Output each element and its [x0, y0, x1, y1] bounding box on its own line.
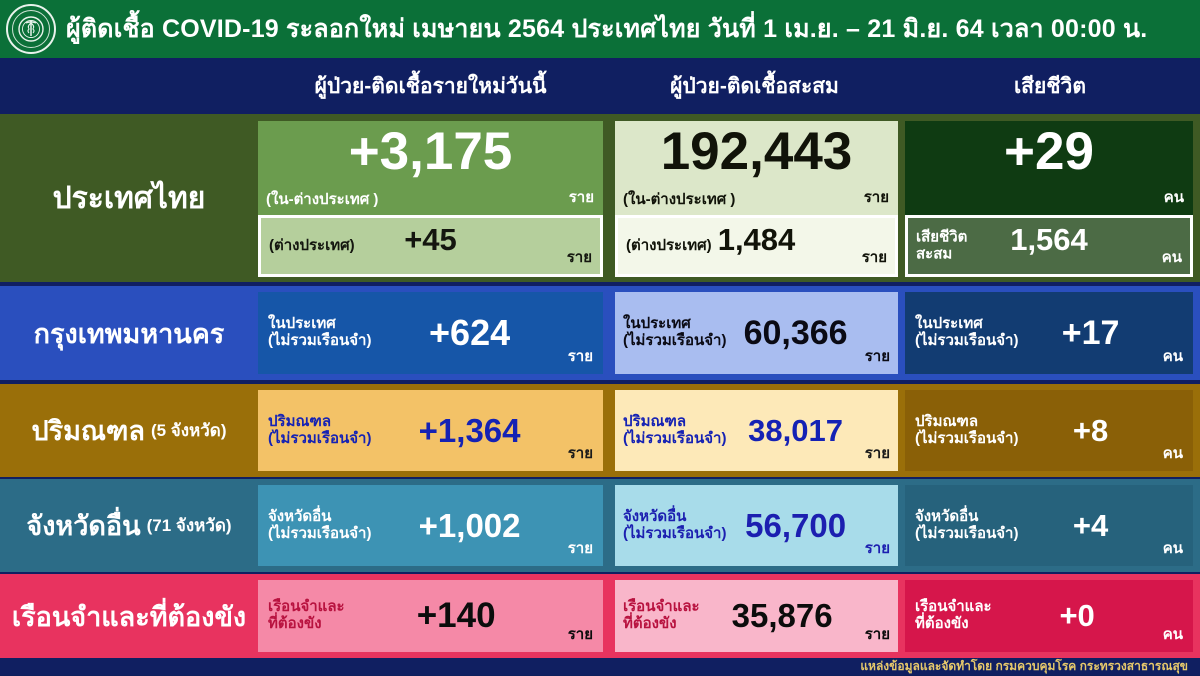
prisons-deaths-value: +0: [992, 598, 1163, 634]
thailand-new-imported-value: +45: [261, 222, 600, 258]
tag-line-2: (ไม่รวมเรือนจำ): [268, 525, 371, 542]
cell-prisons-new-cases: เรือนจำและ ที่ต้องขัง +140 ราย: [258, 580, 603, 652]
tag-line-1: เรือนจำและ: [623, 598, 700, 615]
data-source-credit: แหล่งข้อมูลและจัดทำโดย กรมควบคุมโรค กระท…: [860, 657, 1200, 676]
footer-bar: แหล่งข้อมูลและจัดทำโดย กรมควบคุมโรค กระท…: [0, 658, 1200, 675]
other-provinces-cumulative-tag: จังหวัดอื่น (ไม่รวมเรือนจำ): [623, 509, 726, 543]
other-provinces-new-unit: ราย: [568, 536, 593, 566]
row-label-perimeter: ปริมณฑล (5 จังหวัด): [0, 384, 258, 477]
prisons-new-unit: ราย: [568, 622, 593, 652]
page-title: ผู้ติดเชื้อ COVID-19 ระลอกใหม่ เมษายน 25…: [66, 17, 1147, 42]
row-label-main: ปริมณฑล: [31, 409, 144, 452]
thailand-cumulative-imported-value: 1,484: [618, 222, 895, 258]
row-label-other-provinces: จังหวัดอื่น (71 จังหวัด): [0, 479, 258, 572]
tag-line-2: (ไม่รวมเรือนจำ): [268, 430, 371, 447]
thailand-new-value: +3,175: [258, 125, 603, 178]
thailand-cumulative-unit: ราย: [864, 185, 889, 209]
cell-prisons-deaths: เรือนจำและ ที่ต้องขัง +0 คน: [905, 580, 1193, 652]
tag-line-1: จังหวัดอื่น: [623, 508, 686, 525]
perimeter-deaths-value: +8: [1018, 413, 1162, 449]
tag-line-1: จังหวัดอื่น: [268, 508, 331, 525]
other-provinces-cumulative-value: 56,700: [726, 507, 864, 545]
cell-bangkok-deaths: ในประเทศ (ไม่รวมเรือนจำ) +17 คน: [905, 292, 1193, 374]
column-header-bar: ผู้ป่วย-ติดเชื้อรายใหม่วันนี้ ผู้ป่วย-ติ…: [0, 58, 1200, 114]
tag-line-1: ในประเทศ: [623, 315, 691, 332]
row-label-prisons: เรือนจำและที่ต้องขัง: [0, 574, 258, 658]
prisons-deaths-tag: เรือนจำและ ที่ต้องขัง: [915, 599, 992, 633]
cell-other-provinces-new-cases: จังหวัดอื่น (ไม่รวมเรือนจำ) +1,002 ราย: [258, 485, 603, 566]
bangkok-deaths-unit: คน: [1163, 344, 1183, 374]
thailand-deaths-total: +29 คน: [905, 121, 1193, 215]
perimeter-cumulative-unit: ราย: [865, 441, 890, 471]
perimeter-deaths-unit: คน: [1163, 441, 1183, 471]
tag-line-1: ปริมณฑล: [915, 413, 978, 430]
tag-line-1: ปริมณฑล: [623, 413, 686, 430]
thailand-deaths-cumulative-value: 1,564: [908, 222, 1190, 258]
prisons-cumulative-unit: ราย: [865, 622, 890, 652]
tag-line-1: ปริมณฑล: [268, 413, 331, 430]
cell-thailand-cumulative: 192,443 (ใน-ต่างประเทศ ) ราย (ต่างประเทศ…: [615, 121, 898, 277]
thailand-new-total: +3,175 (ใน-ต่างประเทศ ) ราย: [258, 121, 603, 215]
cell-bangkok-new-cases: ในประเทศ (ไม่รวมเรือนจำ) +624 ราย: [258, 292, 603, 374]
cell-other-provinces-deaths: จังหวัดอื่น (ไม่รวมเรือนจำ) +4 คน: [905, 485, 1193, 566]
perimeter-new-value: +1,364: [371, 412, 567, 450]
row-label-sub: (5 จังหวัด): [151, 417, 227, 444]
tag-line-2: ที่ต้องขัง: [915, 615, 969, 632]
bangkok-cumulative-value: 60,366: [726, 314, 864, 353]
tag-line-2: (ไม่รวมเรือนจำ): [623, 430, 726, 447]
prisons-cumulative-tag: เรือนจำและ ที่ต้องขัง: [623, 599, 700, 633]
other-provinces-new-value: +1,002: [371, 507, 567, 545]
other-provinces-deaths-unit: คน: [1163, 536, 1183, 566]
cell-perimeter-cumulative: ปริมณฑล (ไม่รวมเรือนจำ) 38,017 ราย: [615, 390, 898, 471]
cell-bangkok-cumulative: ในประเทศ (ไม่รวมเรือนจำ) 60,366 ราย: [615, 292, 898, 374]
row-label-bangkok: กรุงเทพมหานคร: [0, 286, 258, 380]
row-label-main: จังหวัดอื่น: [26, 504, 140, 547]
prisons-new-value: +140: [345, 596, 568, 636]
other-provinces-deaths-value: +4: [1018, 508, 1162, 544]
thailand-cumulative-imported-unit: ราย: [862, 245, 887, 269]
perimeter-deaths-tag: ปริมณฑล (ไม่รวมเรือนจำ): [915, 414, 1018, 448]
tag-line-2: ที่ต้องขัง: [623, 615, 677, 632]
thailand-cumulative-value: 192,443: [615, 125, 898, 178]
other-provinces-deaths-tag: จังหวัดอื่น (ไม่รวมเรือนจำ): [915, 509, 1018, 543]
cell-thailand-new-cases: +3,175 (ใน-ต่างประเทศ ) ราย (ต่างประเทศ)…: [258, 121, 603, 277]
ministry-of-public-health-emblem-icon: [6, 4, 56, 54]
table-row-bangkok: กรุงเทพมหานคร ในประเทศ (ไม่รวมเรือนจำ) +…: [0, 286, 1200, 380]
tag-line-1: ในประเทศ: [268, 315, 336, 332]
prisons-cumulative-value: 35,876: [700, 597, 865, 635]
bangkok-cumulative-unit: ราย: [865, 344, 890, 374]
thailand-new-imported: (ต่างประเทศ) +45 ราย: [258, 215, 603, 277]
covid-dashboard: ผู้ติดเชื้อ COVID-19 ระลอกใหม่ เมษายน 25…: [0, 0, 1200, 675]
cell-other-provinces-cumulative: จังหวัดอื่น (ไม่รวมเรือนจำ) 56,700 ราย: [615, 485, 898, 566]
column-header-cumulative: ผู้ป่วย-ติดเชื้อสะสม: [612, 58, 897, 114]
thailand-cumulative-total: 192,443 (ใน-ต่างประเทศ ) ราย: [615, 121, 898, 215]
table-row-other-provinces: จังหวัดอื่น (71 จังหวัด) จังหวัดอื่น (ไม…: [0, 479, 1200, 572]
row-label-main: เรือนจำและที่ต้องขัง: [12, 595, 246, 638]
table-row-thailand: ประเทศไทย +3,175 (ใน-ต่างประเทศ ) ราย (ต…: [0, 114, 1200, 282]
tag-line-1: เรือนจำและ: [268, 598, 345, 615]
row-label-thailand: ประเทศไทย: [0, 114, 258, 282]
perimeter-cumulative-value: 38,017: [726, 413, 864, 449]
table-row-perimeter: ปริมณฑล (5 จังหวัด) ปริมณฑล (ไม่รวมเรือน…: [0, 384, 1200, 477]
row-label-main: กรุงเทพมหานคร: [34, 312, 225, 355]
perimeter-new-unit: ราย: [568, 441, 593, 471]
perimeter-new-tag: ปริมณฑล (ไม่รวมเรือนจำ): [268, 414, 371, 448]
tag-line-1: เรือนจำและ: [915, 598, 992, 615]
column-header-new-cases: ผู้ป่วย-ติดเชื้อรายใหม่วันนี้: [258, 58, 603, 114]
thailand-new-tag: (ใน-ต่างประเทศ ): [266, 187, 378, 211]
cell-thailand-deaths: +29 คน เสียชีวิต สะสม 1,564 คน: [905, 121, 1193, 277]
tag-line-2: (ไม่รวมเรือนจำ): [915, 430, 1018, 447]
bangkok-new-value: +624: [371, 312, 567, 354]
thailand-deaths-cumulative-unit: คน: [1162, 245, 1182, 269]
thailand-deaths-cumulative: เสียชีวิต สะสม 1,564 คน: [905, 215, 1193, 277]
tag-line-2: (ไม่รวมเรือนจำ): [268, 332, 371, 349]
other-provinces-new-tag: จังหวัดอื่น (ไม่รวมเรือนจำ): [268, 509, 371, 543]
bangkok-new-tag: ในประเทศ (ไม่รวมเรือนจำ): [268, 316, 371, 350]
bangkok-deaths-value: +17: [1018, 314, 1162, 353]
tag-line-2: (ไม่รวมเรือนจำ): [915, 525, 1018, 542]
row-label-main: ประเทศไทย: [53, 175, 206, 222]
prisons-new-tag: เรือนจำและ ที่ต้องขัง: [268, 599, 345, 633]
header-bar: ผู้ติดเชื้อ COVID-19 ระลอกใหม่ เมษายน 25…: [0, 0, 1200, 58]
perimeter-cumulative-tag: ปริมณฑล (ไม่รวมเรือนจำ): [623, 414, 726, 448]
tag-line-2: (ไม่รวมเรือนจำ): [623, 332, 726, 349]
table-row-prisons: เรือนจำและที่ต้องขัง เรือนจำและ ที่ต้องข…: [0, 574, 1200, 658]
thailand-new-imported-unit: ราย: [567, 245, 592, 269]
tag-line-2: (ไม่รวมเรือนจำ): [623, 525, 726, 542]
bangkok-deaths-tag: ในประเทศ (ไม่รวมเรือนจำ): [915, 316, 1018, 350]
tag-line-1: จังหวัดอื่น: [915, 508, 978, 525]
cell-perimeter-new-cases: ปริมณฑล (ไม่รวมเรือนจำ) +1,364 ราย: [258, 390, 603, 471]
tag-line-2: (ไม่รวมเรือนจำ): [915, 332, 1018, 349]
column-header-deaths: เสียชีวิต: [905, 58, 1195, 114]
other-provinces-cumulative-unit: ราย: [865, 536, 890, 566]
thailand-deaths-unit: คน: [1164, 185, 1184, 209]
row-label-sub: (71 จังหวัด): [147, 512, 232, 539]
thailand-deaths-value: +29: [905, 125, 1193, 178]
cell-prisons-cumulative: เรือนจำและ ที่ต้องขัง 35,876 ราย: [615, 580, 898, 652]
bangkok-new-unit: ราย: [568, 344, 593, 374]
thailand-cumulative-tag: (ใน-ต่างประเทศ ): [623, 187, 735, 211]
tag-line-1: ในประเทศ: [915, 315, 983, 332]
cell-perimeter-deaths: ปริมณฑล (ไม่รวมเรือนจำ) +8 คน: [905, 390, 1193, 471]
bangkok-cumulative-tag: ในประเทศ (ไม่รวมเรือนจำ): [623, 316, 726, 350]
thailand-cumulative-imported: (ต่างประเทศ) 1,484 ราย: [615, 215, 898, 277]
prisons-deaths-unit: คน: [1163, 622, 1183, 652]
thailand-new-unit: ราย: [569, 185, 594, 209]
tag-line-2: ที่ต้องขัง: [268, 615, 322, 632]
